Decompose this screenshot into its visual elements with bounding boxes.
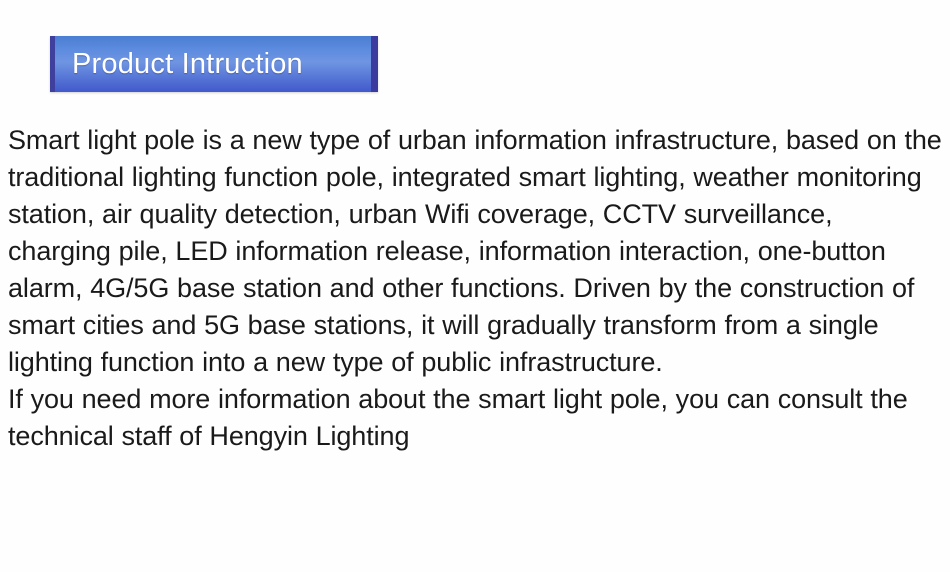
section-banner: Product Intruction (50, 36, 378, 92)
paragraph-product-overview: Smart light pole is a new type of urban … (8, 122, 942, 381)
section-banner-title: Product Intruction (55, 50, 303, 79)
product-instruction-page: Product Intruction Smart light pole is a… (0, 0, 950, 572)
body-copy: Smart light pole is a new type of urban … (8, 122, 942, 455)
paragraph-contact-note: If you need more information about the s… (8, 381, 942, 455)
